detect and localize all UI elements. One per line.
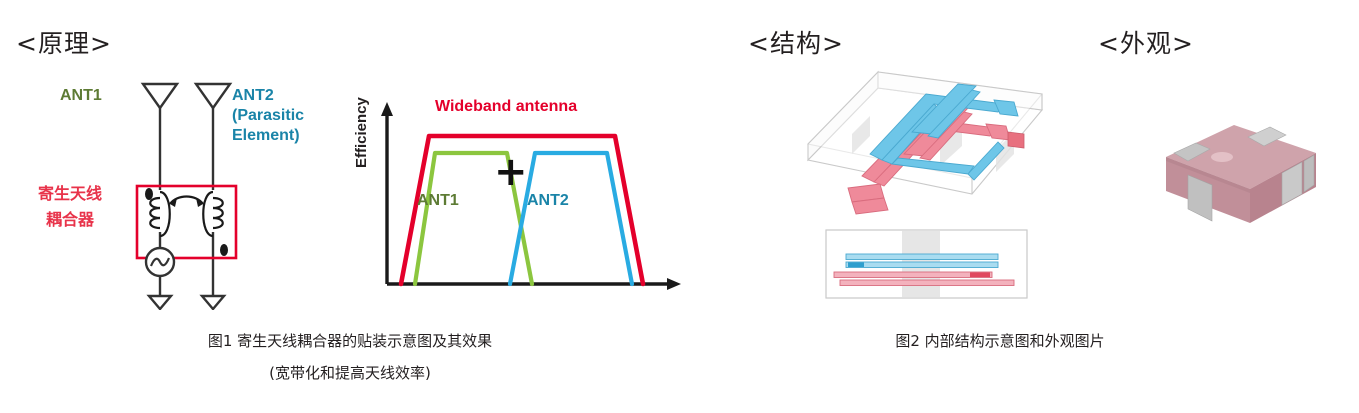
cross-trace-pink-1	[834, 272, 992, 278]
ground-symbol-ant1	[149, 296, 171, 309]
structure-section-title: <结构>	[748, 24, 844, 60]
antenna-coupler-circuit-schematic	[125, 80, 255, 310]
coupler-label-group: 寄生天线 耦合器	[16, 182, 124, 234]
chip-product-photo	[1138, 95, 1338, 245]
figure1-caption-line2: (宽带化和提高天线效率)	[0, 362, 700, 383]
ant1-antenna-symbol	[143, 84, 177, 108]
chart-plot-area	[355, 96, 685, 296]
coupler-label-line1: 寄生天线	[16, 182, 124, 208]
figure2-caption-line1: 图2 内部结构示意图和外观图片	[760, 330, 1240, 351]
y-axis-arrow	[381, 102, 393, 116]
principle-panel: <原理> ANT1 ANT2 (Parasitic Element) 寄生天线 …	[0, 0, 700, 330]
chip-top-marking-dot	[1211, 152, 1233, 162]
efficiency-chart: Efficiency Wideband antenna ANT1 ANT2 +	[355, 96, 685, 296]
plus-operator-icon: +	[494, 152, 528, 192]
polarity-dot-ant2	[220, 244, 228, 256]
chart-annotation-ant1: ANT1	[417, 192, 459, 210]
figure1-caption-line1: 图1 寄生天线耦合器的贴装示意图及其效果	[0, 330, 700, 351]
principle-section-title: <原理>	[16, 24, 112, 60]
chart-annotation-wideband: Wideband antenna	[435, 98, 577, 116]
coupler-label-line2: 耦合器	[16, 208, 124, 234]
x-axis-arrow	[667, 278, 681, 290]
ant2-antenna-symbol	[196, 84, 230, 108]
coupler-inductor-ant2	[203, 192, 223, 236]
coupler-inductor-ant1	[150, 192, 170, 236]
ant1-label: ANT1	[60, 86, 102, 106]
chart-annotation-ant2: ANT2	[527, 192, 569, 210]
cross-trace-blue-1	[846, 254, 998, 260]
cross-trace-blue-2	[846, 262, 998, 268]
terminal-tab-pink	[1008, 132, 1024, 148]
cross-trace-blue-via	[848, 263, 864, 268]
cross-trace-pink-via	[970, 273, 990, 278]
chart-y-axis-label: Efficiency	[353, 97, 370, 168]
cross-trace-pink-2	[840, 280, 1014, 286]
appearance-section-title: <外观>	[1098, 24, 1194, 60]
polarity-dot-ant1	[145, 188, 153, 200]
internal-structure-cross-section	[824, 228, 1029, 300]
internal-structure-3d-view	[800, 58, 1050, 223]
appearance-panel: <外观>	[1090, 0, 1359, 320]
structure-panel: <结构>	[740, 0, 1080, 320]
magnetic-coupling-arrow	[170, 197, 203, 208]
ground-symbol-ant2	[202, 296, 224, 309]
